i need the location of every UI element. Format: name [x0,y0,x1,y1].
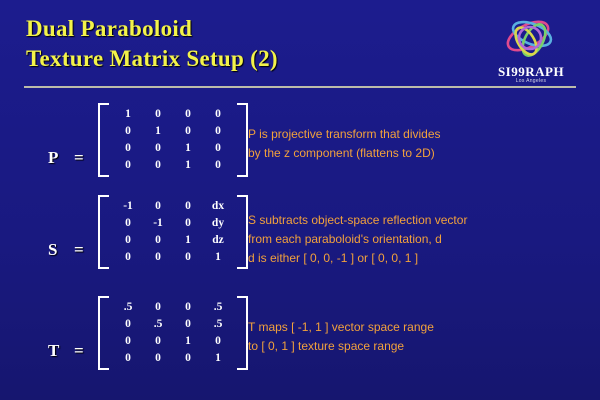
title-divider [24,86,576,88]
matrix-cell: 0 [113,232,143,249]
equation-equals-s: = [74,240,84,260]
matrix-cell: 0 [203,123,233,140]
matrix-cell: 0 [203,157,233,174]
matrix-cell: 0 [173,123,203,140]
matrix-row: 1 0 0 0 [113,106,233,123]
logo-subtext: Los Angeles [476,78,586,84]
matrix-row: 0 0 0 1 [113,249,233,266]
equation-equals-t: = [74,341,84,361]
matrix-cell: dy [203,215,233,232]
description-p: P is projective transform that divides b… [248,125,441,163]
bracket-right-p [237,103,248,177]
title-line-2: Texture Matrix Setup (2) [26,44,446,74]
matrix-cell: 0 [173,198,203,215]
matrix-cell: 0 [173,215,203,232]
description-line: d is either [ 0, 0, -1 ] or [ 0, 0, 1 ] [248,249,467,268]
matrix-row: 0 -1 0 dy [113,215,233,232]
matrix-row: 0 .5 0 .5 [113,316,233,333]
matrix-cell: 0 [143,198,173,215]
slide-title: Dual Paraboloid Texture Matrix Setup (2) [26,14,446,74]
description-line: S subtracts object-space reflection vect… [248,211,467,230]
matrix-cell: 0 [143,333,173,350]
matrix-row: 0 0 1 0 [113,333,233,350]
description-line: to [ 0, 1 ] texture space range [248,337,434,356]
matrix-cell: -1 [113,198,143,215]
matrix-cell: 1 [203,249,233,266]
matrix-t: .5 0 0 .5 0 .5 0 .5 0 0 1 0 [98,296,248,370]
matrix-cell: 0 [173,249,203,266]
bracket-left-p [98,103,109,177]
description-line: P is projective transform that divides [248,125,441,144]
equation-label-t: T [48,341,59,361]
matrix-s: -1 0 0 dx 0 -1 0 dy 0 0 1 dz [98,195,248,269]
bracket-right-t [237,296,248,370]
description-t: T maps [ -1, 1 ] vector space range to [… [248,318,434,356]
siggraph-logo: SI99RAPH Los Angeles [476,10,586,86]
matrix-row: -1 0 0 dx [113,198,233,215]
matrix-cell: 0 [113,215,143,232]
matrix-cell: 0 [113,157,143,174]
description-line: from each paraboloid's orientation, d [248,230,467,249]
matrix-cell: 0 [173,350,203,367]
matrix-cell: 0 [143,232,173,249]
matrix-grid-p: 1 0 0 0 0 1 0 0 0 0 1 0 0 [109,103,237,177]
matrix-cell: 1 [173,333,203,350]
bracket-right-s [237,195,248,269]
matrix-cell: dz [203,232,233,249]
matrix-cell: 0 [143,106,173,123]
matrix-cell: 0 [113,350,143,367]
matrix-cell: 1 [143,123,173,140]
matrix-row: 0 0 0 1 [113,350,233,367]
matrix-cell: 0 [173,316,203,333]
matrix-cell: .5 [203,316,233,333]
matrix-cell: 0 [113,249,143,266]
title-line-1: Dual Paraboloid [26,14,446,44]
equation-label-p: P [48,148,58,168]
description-s: S subtracts object-space reflection vect… [248,211,467,268]
matrix-cell: .5 [203,299,233,316]
matrix-cell: 1 [173,232,203,249]
matrix-cell: 0 [143,299,173,316]
matrix-cell: 0 [173,299,203,316]
matrix-p: 1 0 0 0 0 1 0 0 0 0 1 0 0 [98,103,248,177]
matrix-cell: 0 [113,123,143,140]
matrix-cell: 0 [203,140,233,157]
matrix-grid-t: .5 0 0 .5 0 .5 0 .5 0 0 1 0 [109,296,237,370]
equation-label-s: S [48,240,57,260]
matrix-cell: 0 [143,157,173,174]
description-line: T maps [ -1, 1 ] vector space range [248,318,434,337]
matrix-cell: 0 [203,106,233,123]
matrix-row: 0 1 0 0 [113,123,233,140]
matrix-cell: 0 [143,350,173,367]
matrix-cell: 0 [143,249,173,266]
matrix-cell: 0 [113,140,143,157]
matrix-cell: 0 [173,106,203,123]
matrix-cell: 0 [143,140,173,157]
matrix-row: 0 0 1 0 [113,157,233,174]
matrix-grid-s: -1 0 0 dx 0 -1 0 dy 0 0 1 dz [109,195,237,269]
matrix-row: .5 0 0 .5 [113,299,233,316]
matrix-cell: 1 [113,106,143,123]
description-line: by the z component (flattens to 2D) [248,144,441,163]
matrix-row: 0 0 1 dz [113,232,233,249]
matrix-cell: 1 [173,140,203,157]
bracket-left-t [98,296,109,370]
matrix-row: 0 0 1 0 [113,140,233,157]
matrix-cell: -1 [143,215,173,232]
matrix-cell: .5 [113,299,143,316]
matrix-cell: 1 [173,157,203,174]
matrix-cell: 0 [113,333,143,350]
matrix-cell: dx [203,198,233,215]
slide-canvas: Dual Paraboloid Texture Matrix Setup (2)… [0,0,600,400]
matrix-cell: 1 [203,350,233,367]
logo-rings-icon [476,10,586,66]
equation-equals-p: = [74,148,84,168]
bracket-left-s [98,195,109,269]
matrix-cell: 0 [203,333,233,350]
matrix-cell: .5 [143,316,173,333]
matrix-cell: 0 [113,316,143,333]
